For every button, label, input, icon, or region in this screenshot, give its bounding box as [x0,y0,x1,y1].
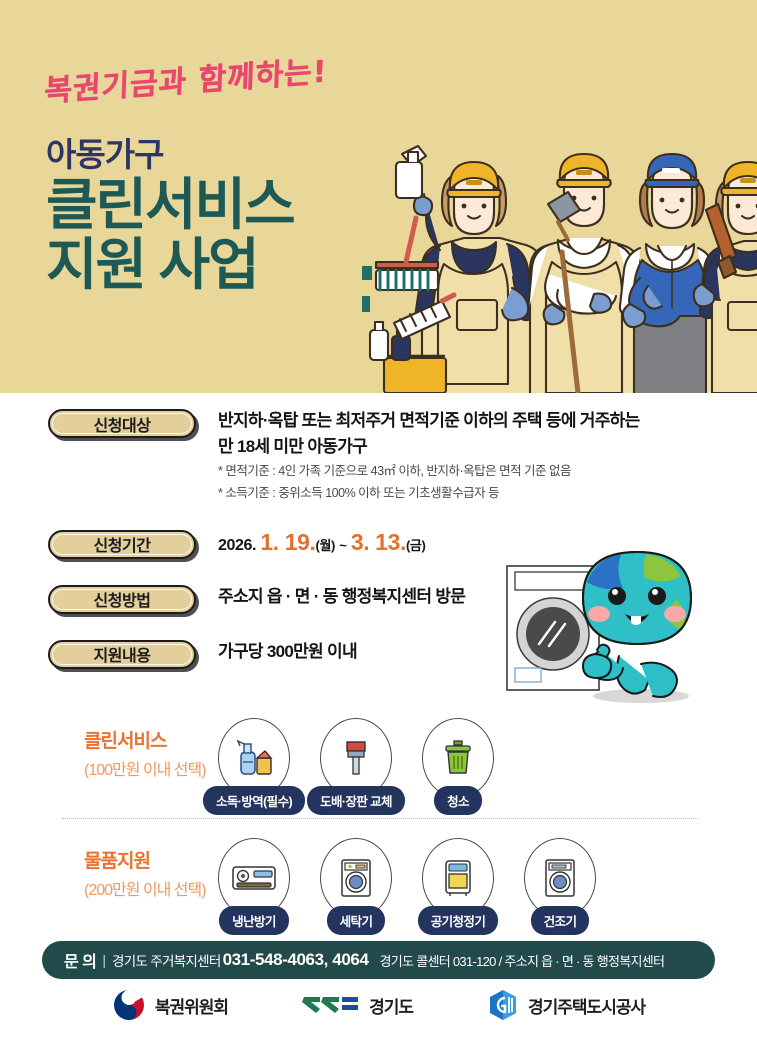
service-title-clean: 클린서비스 [84,726,210,753]
eligibility-note-area: * 면적기준 : 4인 가족 기준으로 43㎡ 이하, 반지하·옥탑은 면적 기… [218,461,640,481]
service-title-goods: 물품지원 [84,846,210,873]
contact-bar: 문 의 | 경기도 주거복지센터 031-548-4063, 4064 경기도 … [42,941,715,979]
row-body-method: 주소지 읍 · 면 · 동 행정복지센터 방문 [196,583,465,610]
row-body-eligibility: 반지하·옥탑 또는 최저주거 면적기준 이하의 주택 등에 거주하는 만 18세… [196,407,640,504]
row-body-support: 가구당 300만원 이내 [196,638,357,665]
logo-label: 복권위원회 [155,993,228,1018]
logo-label: 경기주택도시공사 [528,993,645,1018]
contact-separator: | [102,952,106,968]
label-pill-method: 신청방법 [48,585,196,614]
dryer-icon [544,858,576,898]
support-text: 가구당 300만원 이내 [218,639,357,665]
logo-gyeonggi-do: 경기도 [302,992,413,1018]
label-pill-eligibility: 신청대상 [48,409,196,438]
method-text: 주소지 읍 · 면 · 동 행정복지센터 방문 [218,584,465,610]
period-end-dow: (금) [406,538,425,553]
eligibility-note-income: * 소득기준 : 중위소득 100% 이하 또는 기초생활수급자 등 [218,483,640,503]
service-header-goods: 물품지원 (200만원 이내 선택) [0,838,210,900]
gh-corporation-logo-icon [487,988,519,1022]
row-body-period: 2026. 1. 19.(월) ~ 3. 13.(금) [196,528,425,556]
service-amount-goods: (200만원 이내 선택) [84,876,210,900]
gyeonggi-do-logo-icon [302,992,360,1018]
hero-subtitle: 아동가구 [46,128,163,176]
eligibility-line2: 만 18세 미만 아동가구 [218,434,640,460]
logo-gh-corporation: 경기주택도시공사 [487,988,645,1022]
service-section-clean: 클린서비스 (100만원 이내 선택) 소독·방역(필수) [0,718,757,815]
contact-title: 문 의 [64,948,96,972]
hero-title: 클린서비스 지원 사업 [46,175,294,296]
service-item[interactable]: 세탁기 [312,838,400,935]
service-items-clean: 소독·방역(필수) 도배·장판 교체 청소 [210,718,502,815]
service-section-goods: 물품지원 (200만원 이내 선택) 냉난방기 [0,838,757,935]
service-item-label: 세탁기 [327,906,386,935]
service-item[interactable]: 소독·방역(필수) [210,718,298,815]
service-item-label: 소독·방역(필수) [203,786,305,815]
period-start-date: 1. 19. [260,529,315,555]
hero-banner: 복권기금과 함께하는! 아동가구 클린서비스 지원 사업 [0,0,757,393]
period-start-dow: (월) [316,538,335,553]
section-divider [62,818,698,819]
service-item[interactable]: 도배·장판 교체 [312,718,400,815]
label-text: 신청기간 [94,532,151,556]
logo-lottery-commission: 복권위원회 [112,988,228,1022]
paint-brush-icon [341,738,371,778]
service-item-label: 공기청정기 [418,906,499,935]
label-text: 신청방법 [94,587,151,611]
air-purifier-icon [442,858,474,898]
service-item[interactable]: 냉난방기 [210,838,298,935]
label-text: 지원내용 [94,642,151,666]
service-amount-clean: (100만원 이내 선택) [84,756,210,780]
air-conditioner-icon [231,863,277,893]
trash-bin-icon [443,739,473,777]
spray-bottle-icon [235,738,273,778]
service-items-goods: 냉난방기 세탁기 [210,838,604,935]
washing-machine-icon [340,858,372,898]
period-year: 2026. [218,537,256,554]
taegeuk-logo-icon [112,988,146,1022]
period-separator: ~ [339,538,346,553]
service-item[interactable]: 건조기 [516,838,604,935]
label-text: 신청대상 [94,412,151,436]
service-item-label: 청소 [434,786,482,815]
application-period: 2026. 1. 19.(월) ~ 3. 13.(금) [218,529,425,556]
hero-script-text: 복권기금과 함께하는! [44,46,328,110]
info-row-eligibility: 신청대상 반지하·옥탑 또는 최저주거 면적기준 이하의 주택 등에 거주하는 … [0,407,757,504]
contact-extra-info: 경기도 콜센터 031-120 / 주소지 읍 · 면 · 동 행정복지센터 [380,951,665,970]
contact-organization: 경기도 주거복지센터 [112,950,221,970]
service-item-label: 냉난방기 [219,906,289,935]
service-item-label: 건조기 [531,906,590,935]
logo-row: 복권위원회 경기도 경기주택도시공사 [0,988,757,1022]
cleaning-workers-illustration [362,118,757,393]
service-item[interactable]: 공기청정기 [414,838,502,935]
mascot-illustration [491,538,719,706]
service-item-label: 도배·장판 교체 [307,786,405,815]
hero-title-line2: 지원 사업 [46,235,294,295]
logo-label: 경기도 [369,993,413,1018]
hero-title-line1: 클린서비스 [46,173,294,236]
service-item[interactable]: 청소 [414,718,502,815]
label-pill-support: 지원내용 [48,640,196,669]
period-end-date: 3. 13. [351,529,406,555]
label-pill-period: 신청기간 [48,530,196,559]
eligibility-line1: 반지하·옥탑 또는 최저주거 면적기준 이하의 주택 등에 거주하는 [218,408,640,434]
service-header-clean: 클린서비스 (100만원 이내 선택) [0,718,210,780]
contact-phone[interactable]: 031-548-4063, 4064 [223,950,369,970]
